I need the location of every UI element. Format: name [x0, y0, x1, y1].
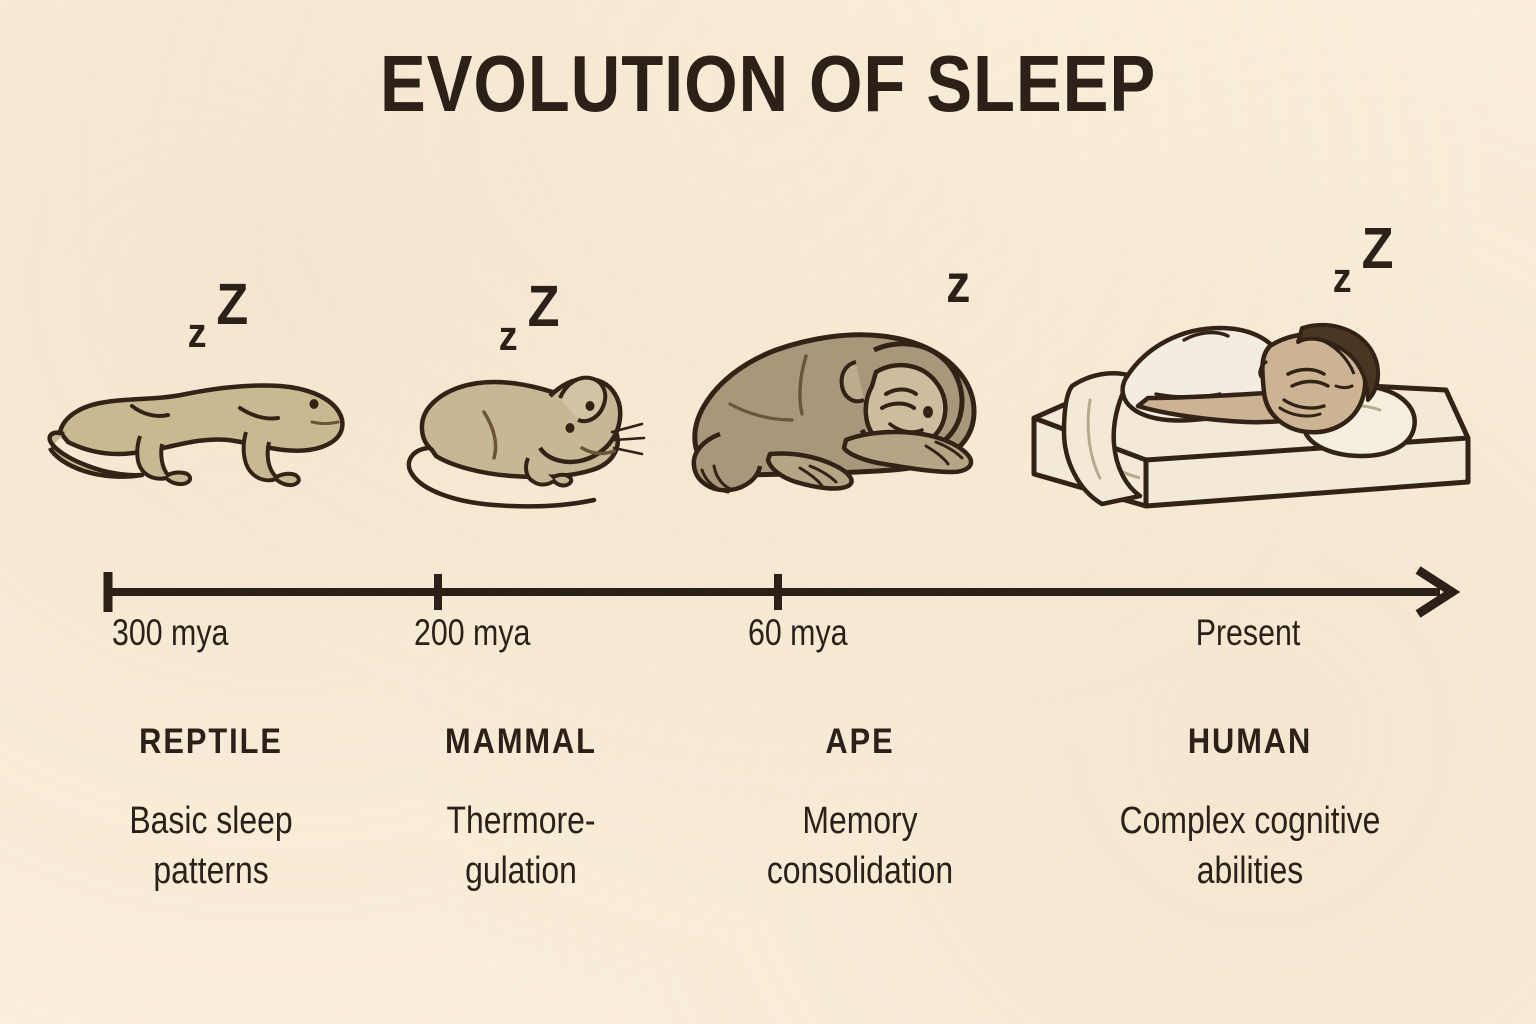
ape-drawing	[694, 335, 974, 492]
stage-description-line: consolidation	[692, 846, 1028, 896]
lizard-drawing	[50, 385, 343, 485]
stage-description-human: Complex cognitive abilities	[1065, 796, 1435, 896]
zzz-glyph-ape: z	[946, 254, 970, 314]
svg-text:Z: Z	[216, 272, 248, 337]
stage-description-line: abilities	[1065, 846, 1435, 896]
illustration-sleeping-lizard: z Z	[40, 272, 380, 522]
stage-heading-reptile: REPTILE	[57, 722, 365, 762]
mouse-drawing	[409, 378, 644, 507]
stage-description-line: Thermore-	[374, 796, 668, 846]
stage-description-line: Basic sleep	[64, 796, 358, 846]
svg-text:z: z	[188, 310, 207, 356]
illustration-sleeping-human: z Z	[1016, 228, 1486, 528]
illustration-sleeping-ape: z	[660, 254, 1020, 524]
svg-text:z: z	[1333, 255, 1352, 301]
zzz-glyph-human: z Z	[1333, 228, 1394, 301]
stage-column-mammal: MAMMAL Thermore- gulation	[346, 722, 696, 896]
person-drawing	[1123, 325, 1378, 432]
illustration-sleeping-mouse: z Z	[398, 272, 688, 522]
stage-description-line: Memory	[692, 796, 1028, 846]
stage-heading-human: HUMAN	[1056, 722, 1443, 762]
svg-text:Z: Z	[528, 273, 560, 338]
stage-column-reptile: REPTILE Basic sleep patterns	[36, 722, 386, 896]
stage-heading-ape: APE	[684, 722, 1036, 762]
svg-text:Z: Z	[1362, 228, 1394, 281]
zzz-glyph-mammal: z Z	[499, 273, 560, 359]
stage-description-ape: Memory consolidation	[692, 796, 1028, 896]
zzz-glyph-reptile: z Z	[188, 272, 249, 356]
stage-heading-mammal: MAMMAL	[367, 722, 675, 762]
illustration-row: z Z	[0, 228, 1536, 538]
stage-description-mammal: Thermore- gulation	[374, 796, 668, 896]
stage-description-line: patterns	[64, 846, 358, 896]
page-title: EVOLUTION OF SLEEP	[108, 44, 1429, 124]
svg-text:z: z	[946, 254, 970, 314]
timeline-label-present: Present	[1166, 612, 1330, 654]
timeline-label-200mya: 200 mya	[414, 612, 530, 654]
svg-text:z: z	[499, 313, 518, 359]
infographic-poster: EVOLUTION OF SLEEP z Z	[0, 0, 1536, 1024]
stage-column-ape: APE Memory consolidation	[660, 722, 1060, 896]
timeline-label-300mya: 300 mya	[112, 612, 228, 654]
stage-description-line: Complex cognitive	[1065, 796, 1435, 846]
stage-description-reptile: Basic sleep patterns	[64, 796, 358, 896]
stage-column-human: HUMAN Complex cognitive abilities	[1030, 722, 1470, 896]
timeline-label-60mya: 60 mya	[748, 612, 848, 654]
stage-description-line: gulation	[374, 846, 668, 896]
